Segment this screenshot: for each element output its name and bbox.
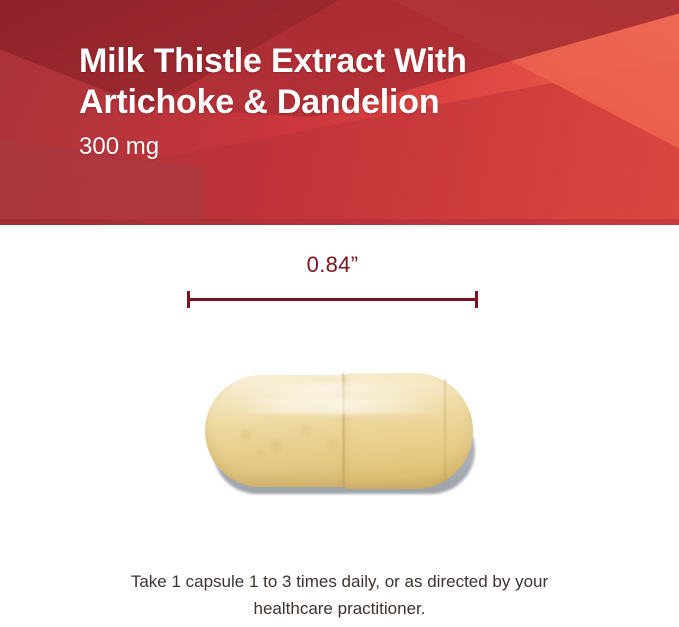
dimension-line: [187, 298, 478, 301]
dimension-tick-left-icon: [187, 291, 190, 308]
capsule-powder-texture: [219, 409, 369, 469]
dosage-strength-label: 300 mg: [79, 133, 599, 161]
capsule-product-image: [197, 368, 487, 508]
page-title: Milk Thistle Extract With Artichoke & Da…: [79, 41, 599, 123]
dimension-tick-right-icon: [475, 291, 478, 308]
dimension-rule: [187, 291, 478, 308]
dimension-measurement-label: 0.84”: [187, 252, 478, 278]
directions-line-1: Take 1 capsule 1 to 3 times daily, or as…: [60, 568, 619, 595]
banner-bottom-edge-sliver: [0, 219, 679, 225]
capsule-shell: [205, 375, 473, 487]
hero-text-group: Milk Thistle Extract With Artichoke & Da…: [79, 41, 599, 161]
capsule-specular-highlight: [231, 397, 449, 414]
usage-directions: Take 1 capsule 1 to 3 times daily, or as…: [60, 568, 619, 622]
product-detail-panel: Milk Thistle Extract With Artichoke & Da…: [0, 0, 679, 627]
size-dimension-callout: 0.84”: [187, 252, 478, 308]
capsule-soft-highlight: [223, 383, 455, 397]
product-hero-banner: Milk Thistle Extract With Artichoke & Da…: [0, 0, 679, 225]
directions-line-2: healthcare practitioner.: [60, 595, 619, 622]
